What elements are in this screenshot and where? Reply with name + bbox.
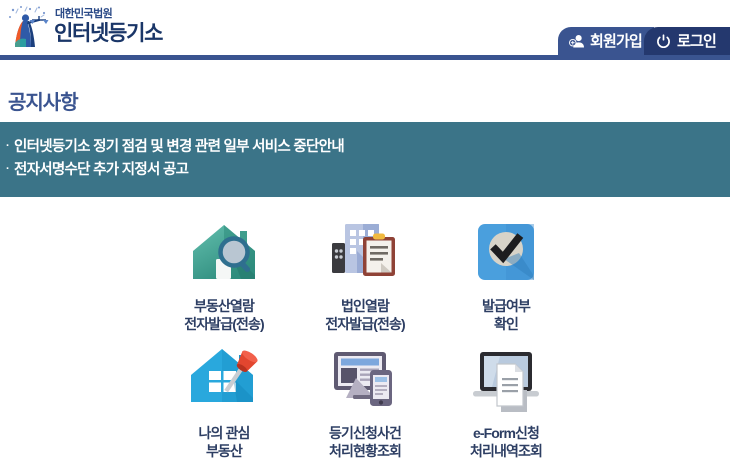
check-badge-icon <box>467 213 545 291</box>
notice-item[interactable]: · 인터넷등기소 정기 점검 및 변경 관련 일부 서비스 중단안내 <box>6 136 730 159</box>
notice-item[interactable]: · 전자서명수단 추가 지정서 공고 <box>6 159 730 182</box>
service-real-estate-issue[interactable]: 부동산열람 전자발급(전송) <box>172 213 277 334</box>
brand-title: 인터넷등기소 <box>54 23 162 44</box>
power-icon <box>655 33 672 50</box>
site-logo[interactable]: 대한민국법원 인터넷등기소 <box>6 3 162 49</box>
bullet-icon: · <box>6 164 9 175</box>
house-pushpin-icon <box>185 340 263 418</box>
service-label: 법인열람 전자발급(전송) <box>325 297 404 334</box>
service-corporate-issue[interactable]: 법인열람 전자발급(전송) <box>313 213 418 334</box>
service-shortcuts: 부동산열람 전자발급(전송) <box>0 197 730 461</box>
service-label: 부동산열람 전자발급(전송) <box>184 297 263 334</box>
notice-item-label: 인터넷등기소 정기 점검 및 변경 관련 일부 서비스 중단안내 <box>14 136 344 159</box>
scales-of-justice-emblem-icon <box>6 3 50 49</box>
site-header: 대한민국법원 인터넷등기소 회원가입 <box>0 0 730 55</box>
service-row-1: 부동산열람 전자발급(전송) <box>172 213 559 334</box>
service-label: 나의 관심 부동산 <box>199 424 250 461</box>
service-label: e-Form신청 처리내역조회 <box>470 424 542 461</box>
add-user-icon <box>568 33 585 50</box>
monitor-mobile-icon <box>326 340 404 418</box>
service-favorite-properties[interactable]: 나의 관심 부동산 <box>172 340 277 461</box>
signup-label: 회원가입 <box>590 34 642 49</box>
signup-button[interactable]: 회원가입 <box>558 27 654 55</box>
notice-bar: · 인터넷등기소 정기 점검 및 변경 관련 일부 서비스 중단안내 · 전자서… <box>0 122 730 197</box>
buildings-clipboard-icon <box>326 213 404 291</box>
laptop-documents-icon <box>467 340 545 418</box>
page-title-area: 공지사항 <box>0 60 730 122</box>
service-application-status[interactable]: 등기신청사건 처리현황조회 <box>313 340 418 461</box>
page-title: 공지사항 <box>8 92 78 114</box>
service-label: 발급여부 확인 <box>482 297 530 334</box>
header-nav: 회원가입 로그인 <box>558 27 730 55</box>
login-button[interactable]: 로그인 <box>644 27 730 55</box>
service-eform-history[interactable]: e-Form신청 처리내역조회 <box>454 340 559 461</box>
bullet-icon: · <box>6 141 9 152</box>
login-label: 로그인 <box>677 34 716 49</box>
house-magnifier-icon <box>185 213 263 291</box>
notice-item-label: 전자서명수단 추가 지정서 공고 <box>14 159 188 182</box>
service-row-2: 나의 관심 부동산 <box>172 340 559 461</box>
brand-subtitle: 대한민국법원 <box>54 9 162 20</box>
service-issue-verification[interactable]: 발급여부 확인 <box>454 213 559 334</box>
service-label: 등기신청사건 처리현황조회 <box>329 424 401 461</box>
